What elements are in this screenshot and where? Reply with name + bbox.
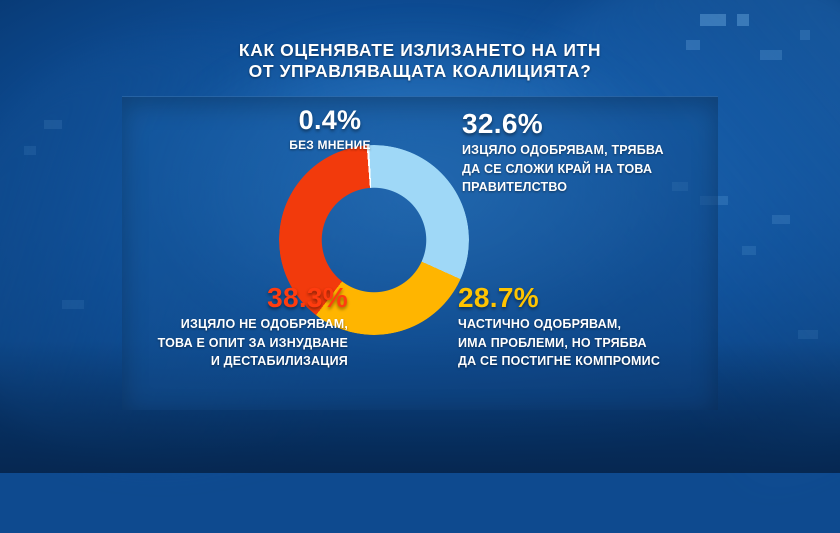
slice-percent-partial: 28.7% [458, 282, 694, 314]
slice-text-partial-line2: ИМА ПРОБЛЕМИ, НО ТРЯБВА [458, 336, 694, 352]
slice-text-disapprove-line2: ТОВА Е ОПИТ ЗА ИЗНУДВАНЕ [128, 336, 348, 352]
deco-square [62, 300, 84, 309]
slice-text-disapprove-line3: И ДЕСТАБИЛИЗАЦИЯ [128, 354, 348, 370]
slice-label-approve: 32.6% ИЗЦЯЛО ОДОБРЯВАМ, ТРЯБВА ДА СЕ СЛО… [462, 108, 692, 196]
deco-square [737, 14, 749, 26]
slice-text-approve-line1: ИЗЦЯЛО ОДОБРЯВАМ, ТРЯБВА [462, 143, 692, 159]
slice-percent-no-opinion: 0.4% [240, 105, 420, 136]
slice-text-disapprove-line1: ИЗЦЯЛО НЕ ОДОБРЯВАМ, [128, 317, 348, 333]
title-line-1: КАК ОЦЕНЯВАТЕ ИЗЛИЗАНЕТО НА ИТН [110, 40, 730, 61]
deco-square [798, 330, 818, 339]
chart-title: КАК ОЦЕНЯВАТЕ ИЗЛИЗАНЕТО НА ИТН ОТ УПРАВ… [110, 40, 730, 82]
slice-label-no-opinion: 0.4% БЕЗ МНЕНИЕ [240, 105, 420, 154]
slice-percent-approve: 32.6% [462, 108, 692, 140]
slice-text-approve-line2: ДА СЕ СЛОЖИ КРАЙ НА ТОВА [462, 162, 692, 178]
slice-text-partial-line1: ЧАСТИЧНО ОДОБРЯВАМ, [458, 317, 694, 333]
title-line-2: ОТ УПРАВЛЯВАЩАТА КОАЛИЦИЯТА? [110, 61, 730, 82]
slice-label-disapprove: 38.3% ИЗЦЯЛО НЕ ОДОБРЯВАМ, ТОВА Е ОПИТ З… [128, 282, 348, 370]
deco-square [700, 14, 726, 26]
slice-text-no-opinion: БЕЗ МНЕНИЕ [240, 138, 420, 154]
slice-label-partial: 28.7% ЧАСТИЧНО ОДОБРЯВАМ, ИМА ПРОБЛЕМИ, … [458, 282, 694, 370]
slice-percent-disapprove: 38.3% [128, 282, 348, 314]
deco-square [24, 146, 36, 155]
slice-text-approve-line3: ПРАВИТЕЛСТВО [462, 180, 692, 196]
slice-text-partial-line3: ДА СЕ ПОСТИГНЕ КОМПРОМИС [458, 354, 694, 370]
deco-square [760, 50, 782, 60]
deco-square [772, 215, 790, 224]
deco-square [800, 30, 810, 40]
deco-square [742, 246, 756, 255]
deco-square [44, 120, 62, 129]
